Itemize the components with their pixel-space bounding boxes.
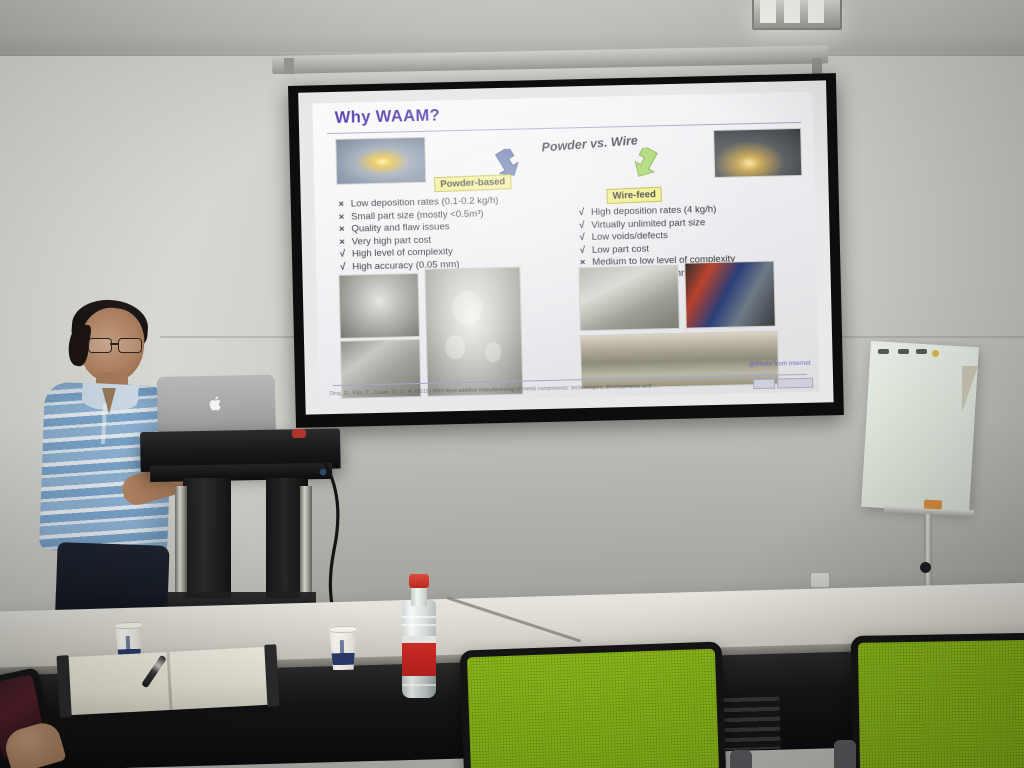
cross-icon: ×: [337, 199, 346, 212]
slide-footer-badge: [753, 378, 813, 389]
laser-powder-melt-pool-image: [335, 137, 426, 185]
apple-logo-icon: [209, 395, 224, 412]
notebook-spine: [166, 652, 172, 710]
photo-credit: @Photo from internet: [749, 360, 811, 368]
check-icon: √: [578, 232, 587, 245]
cup-print: [126, 636, 130, 650]
arc-welding-robot-image: [684, 261, 776, 329]
slide-title: Why WAAM?: [335, 106, 441, 127]
chair-armrest: [730, 750, 752, 768]
paper-curl: [962, 366, 978, 412]
podium-column: [183, 478, 231, 598]
presentation-slide: Why WAAM? Powder vs. Wire Pow: [312, 92, 819, 404]
powder-based-tag: Powder-based: [434, 174, 511, 192]
open-notebook: [61, 646, 276, 715]
chair-armrest: [834, 740, 856, 768]
cup-rim: [114, 621, 145, 629]
bottle-label: [402, 636, 436, 676]
waam-box-structure-image: [578, 265, 679, 331]
projection-screen: Why WAAM? Powder vs. Wire Pow: [288, 73, 844, 428]
board-clip: [878, 349, 889, 354]
topology-optimised-bracket-image: [424, 267, 523, 397]
powder-vs-wire-heading: Powder vs. Wire: [541, 133, 638, 154]
lecture-room-photo: Why WAAM? Powder vs. Wire Pow: [0, 0, 1024, 768]
board-clip: [916, 349, 927, 354]
wire-arrow-icon: [632, 147, 663, 180]
cup-rim: [328, 626, 359, 634]
check-icon: √: [578, 245, 587, 258]
check-icon: √: [577, 220, 586, 233]
chair-backrest: [851, 632, 1024, 768]
cross-icon: ×: [337, 211, 346, 224]
easel-adjust-knob[interactable]: [920, 562, 931, 573]
fluorescent-ceiling-light-icon: [752, 0, 842, 30]
cross-icon: ×: [338, 236, 347, 249]
wire-feed-tag: Wire-feed: [606, 187, 662, 204]
marker-pen: [924, 500, 942, 510]
board-magnet: [932, 350, 939, 357]
podium-leg: [175, 486, 187, 598]
screen-bracket-left: [284, 58, 294, 74]
wall-outlet: [810, 572, 830, 588]
screen-surface: Why WAAM? Powder vs. Wire Pow: [298, 80, 833, 414]
cross-icon: ×: [337, 224, 346, 237]
waam-long-beam-image: [580, 331, 779, 390]
powder-bullet-list: ×Low deposition rates (0.1-0.2 kg/h) ×Sm…: [337, 195, 500, 274]
flip-chart-easel: [866, 344, 984, 560]
screen-bracket-right: [812, 58, 822, 74]
printed-impeller-image: [338, 273, 419, 339]
bullet-text: Low voids/defects: [592, 230, 669, 244]
chair-backrest: [460, 641, 727, 768]
macbook-laptop[interactable]: [157, 374, 276, 438]
red-button[interactable]: [292, 429, 306, 438]
cup-print: [340, 640, 344, 654]
bottle-cap: [409, 574, 429, 588]
board-clip: [898, 349, 909, 354]
bullet-text: Quality and flaw issues: [351, 221, 449, 236]
wire-arc-deposition-image: [713, 128, 802, 178]
glasses-icon: [88, 338, 144, 352]
notebook-cover: [57, 655, 72, 718]
water-bottle: [400, 572, 438, 698]
check-icon: √: [577, 207, 586, 220]
check-icon: √: [338, 262, 347, 275]
podium-leg: [300, 486, 312, 598]
check-icon: √: [338, 249, 347, 262]
